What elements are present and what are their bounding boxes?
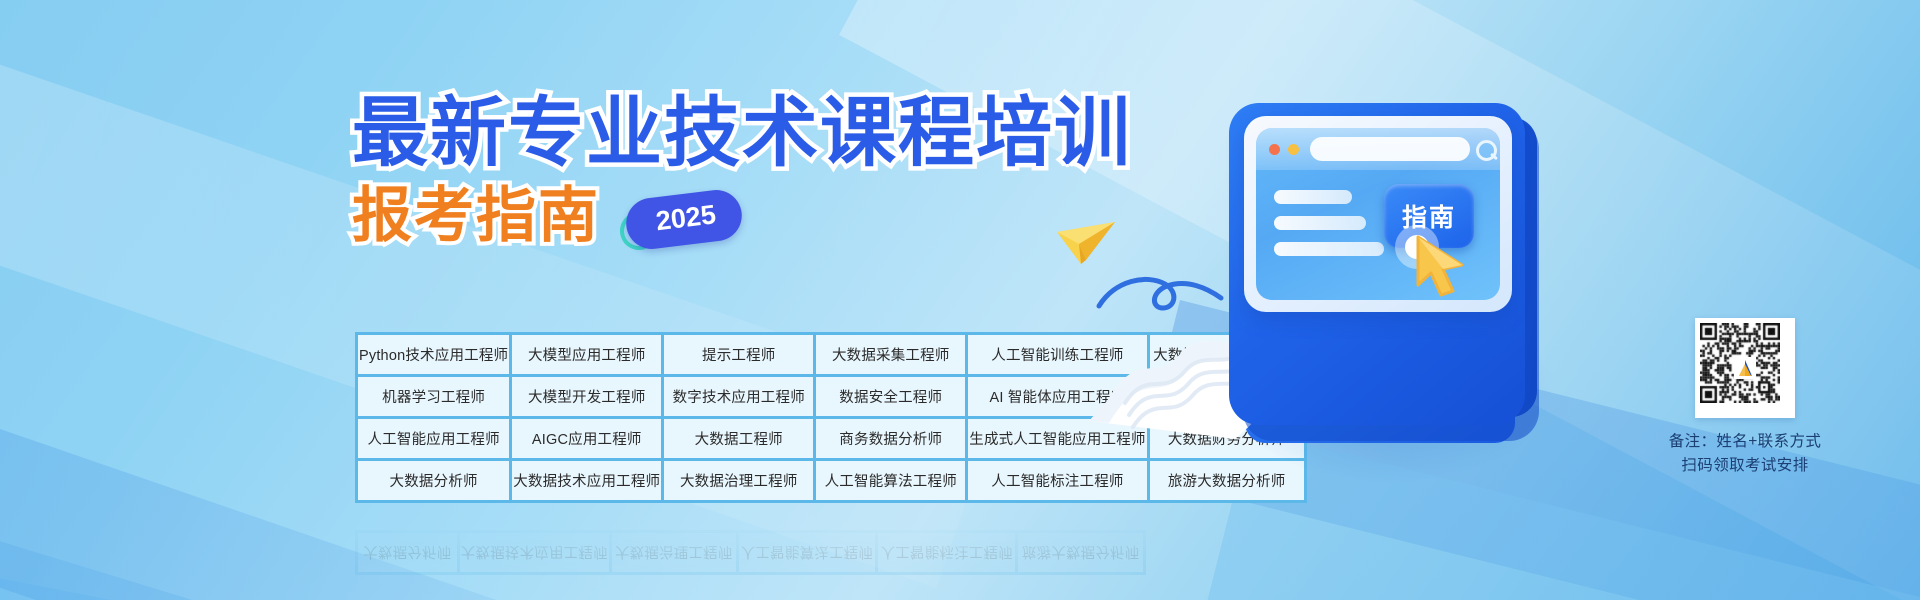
device-screen-frame: 指南 xyxy=(1244,116,1512,312)
table-cell: 旅游大数据分析师 xyxy=(1018,533,1143,572)
qr-block: 备注：姓名+联系方式 扫码领取考试安排 xyxy=(1655,318,1835,478)
subtitle-row: 报考指南 2025 xyxy=(352,186,1132,246)
year-badge-label: 2025 xyxy=(623,187,744,252)
table-cell: 人工智能算法工程师 xyxy=(739,533,875,572)
yellow-dot-icon xyxy=(1288,144,1299,155)
table-cell: 机器学习工程师 xyxy=(358,377,509,416)
table-cell: Python技术应用工程师 xyxy=(358,335,509,374)
content-line-2 xyxy=(1274,216,1366,230)
table-cell: 大数据工程师 xyxy=(664,419,813,458)
table-cell: 数据安全工程师 xyxy=(816,377,965,416)
qr-code-icon[interactable] xyxy=(1695,318,1795,418)
device-illustration: 指南 xyxy=(1195,95,1595,515)
table-cell: 大数据采集工程师 xyxy=(816,335,965,374)
table-cell: 提示工程师 xyxy=(664,335,813,374)
content-line-1 xyxy=(1274,190,1352,204)
reflection-body: 大数据分析师大数据技术应用工程师大数据治理工程师人工智能算法工程师人工智能标注工… xyxy=(358,533,1143,572)
table-cell: 大数据分析师 xyxy=(358,461,509,500)
table-cell: 人工智能标注工程师 xyxy=(878,533,1015,572)
search-icon[interactable] xyxy=(1476,140,1497,161)
arrow-cursor-icon xyxy=(1412,235,1468,297)
table-cell: 大数据技术应用工程师 xyxy=(460,533,609,572)
background-band-5 xyxy=(0,520,780,600)
red-dot-icon xyxy=(1269,144,1280,155)
page-title: 最新专业技术课程培训 xyxy=(352,96,1132,172)
browser-toolbar xyxy=(1256,128,1500,170)
table-cell: 大模型开发工程师 xyxy=(512,377,661,416)
table-cell: 大数据治理工程师 xyxy=(664,461,813,500)
table-cell: 人工智能应用工程师 xyxy=(358,419,509,458)
courses-table-reflection: 大数据分析师大数据技术应用工程师大数据治理工程师人工智能算法工程师人工智能标注工… xyxy=(355,515,1146,575)
qr-caption-line-2: 扫码领取考试安排 xyxy=(1655,454,1835,478)
qr-center-logo-icon xyxy=(1734,357,1756,379)
table-cell: 大数据治理工程师 xyxy=(612,533,736,572)
content-line-3 xyxy=(1274,242,1384,256)
reflection-table: 大数据分析师大数据技术应用工程师大数据治理工程师人工智能算法工程师人工智能标注工… xyxy=(355,530,1146,575)
device-body: 指南 xyxy=(1229,103,1525,425)
qr-caption-line-1: 备注：姓名+联系方式 xyxy=(1655,430,1835,454)
table-cell: 大数据技术应用工程师 xyxy=(512,461,661,500)
promo-banner: 最新专业技术课程培训 报考指南 2025 Python技术应用工程师大模型应用工… xyxy=(0,0,1920,600)
headline-block: 最新专业技术课程培训 报考指南 2025 xyxy=(352,96,1132,246)
table-cell: 大数据分析师 xyxy=(358,533,457,572)
page-subtitle: 报考指南 xyxy=(352,186,600,246)
year-badge: 2025 xyxy=(626,194,742,245)
search-input[interactable] xyxy=(1310,137,1470,161)
table-cell: AIGC应用工程师 xyxy=(512,419,661,458)
table-cell: 数字技术应用工程师 xyxy=(664,377,813,416)
table-cell: 商务数据分析师 xyxy=(816,419,965,458)
table-row: 大数据分析师大数据技术应用工程师大数据治理工程师人工智能算法工程师人工智能标注工… xyxy=(358,533,1143,572)
table-cell: 大模型应用工程师 xyxy=(512,335,661,374)
table-cell: 人工智能标注工程师 xyxy=(968,461,1146,500)
table-cell: 人工智能算法工程师 xyxy=(816,461,965,500)
table-row: 大数据分析师大数据技术应用工程师大数据治理工程师人工智能算法工程师人工智能标注工… xyxy=(358,461,1304,500)
qr-caption: 备注：姓名+联系方式 扫码领取考试安排 xyxy=(1655,430,1835,478)
